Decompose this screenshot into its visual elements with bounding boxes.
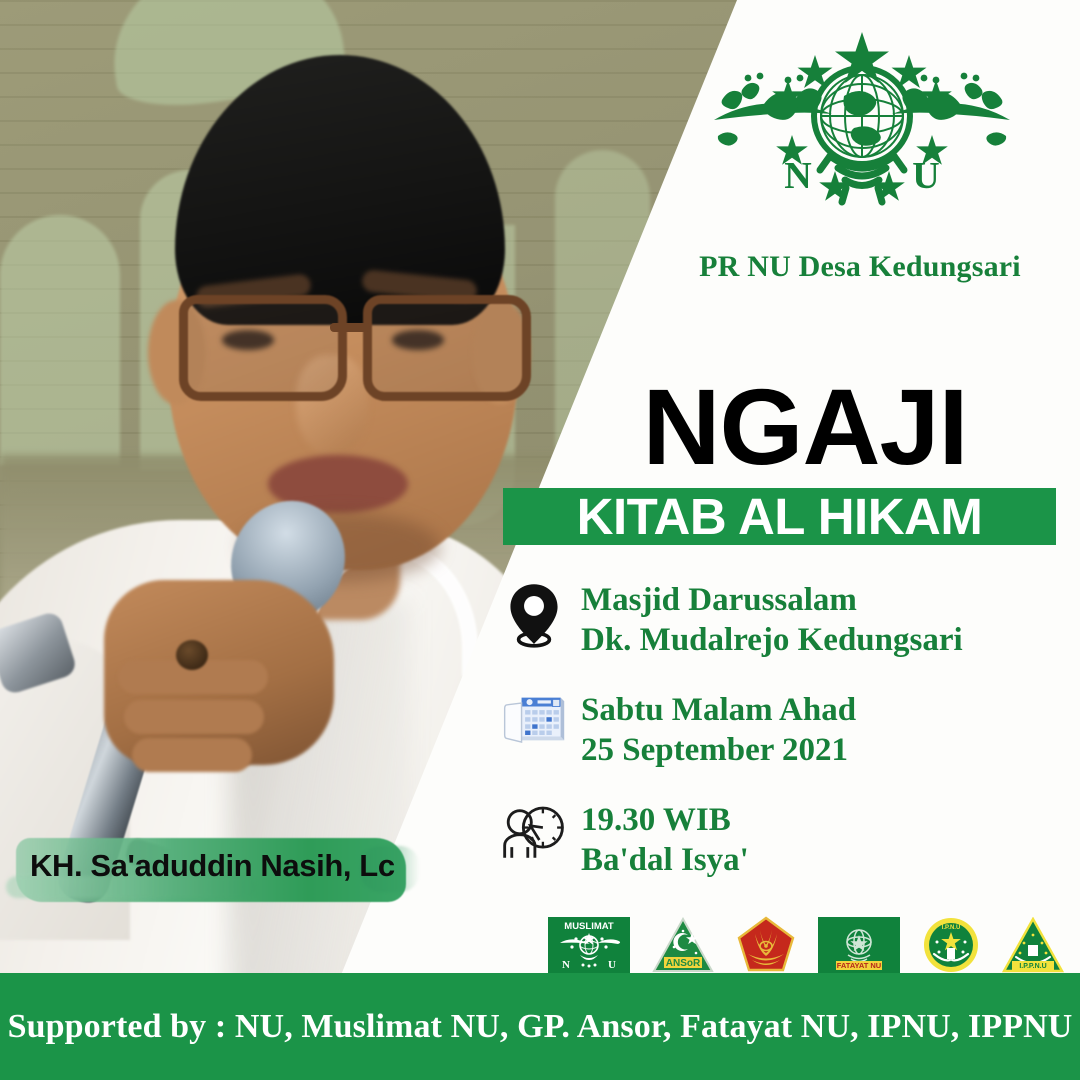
location-line-1: Masjid Darussalam [581,582,857,618]
muslimat-nu-logo: MUSLIMAT N U [548,917,630,978]
muslimat-letter-n: N [562,959,570,971]
detail-text-location: Masjid Darussalam Dk. Mudalrejo Kedungsa… [581,578,963,661]
eyeglasses [155,285,555,395]
detail-row-date: Sabtu Malam Ahad 25 September 2021 [487,688,1077,780]
time-line-1: 19.30 WIB [581,802,731,838]
speaker-name-banner: KH. Sa'aduddin Nasih, Lc [8,820,428,920]
ipnu-logo: I.P.N.U [922,916,980,979]
nu-logo-letter-u: U [912,155,939,197]
supporting-organization-logos: MUSLIMAT N U [548,916,1068,978]
detail-row-time: 19.30 WIB Ba'dal Isya' [487,798,1077,890]
ipnu-label: I.P.N.U [942,925,961,931]
muslimat-label: MUSLIMAT [564,921,614,932]
date-line-2: 25 September 2021 [581,730,856,770]
date-line-1: Sabtu Malam Ahad [581,692,856,728]
event-title-sub: KITAB AL HIKAM [503,488,1056,545]
finger [132,738,252,772]
glasses-bridge [330,323,370,332]
event-poster: N U PR NU Desa Kedungsari NGAJI KITAB AL… [0,0,1080,1080]
ippnu-label: I.P.P.N.U [1019,963,1046,970]
person-clock-icon [487,798,581,862]
speaker-name: KH. Sa'aduddin Nasih, Lc [30,848,395,884]
organization-caption: PR NU Desa Kedungsari [660,250,1060,284]
lens-left [179,295,347,401]
detail-text-date: Sabtu Malam Ahad 25 September 2021 [581,688,856,771]
calendar-icon [487,688,581,746]
finger [124,700,264,734]
time-line-2: Ba'dal Isya' [581,840,749,880]
muslimat-letter-u: U [608,959,616,971]
detail-row-location: Masjid Darussalam Dk. Mudalrejo Kedungsa… [487,578,1077,670]
fatayat-nu-logo: FATAYAT NU [818,917,900,978]
nu-logo: N U [712,28,1012,228]
pagar-nusa-logo [736,916,796,979]
detail-text-time: 19.30 WIB Ba'dal Isya' [581,798,749,881]
ansor-label: ANSoR [666,958,701,969]
fatayat-label: FATAYAT NU [837,961,881,970]
nu-logo-letter-n: N [784,155,811,197]
ippnu-logo: I.P.P.N.U [1002,917,1064,978]
lens-right [363,295,531,401]
location-line-2: Dk. Mudalrejo Kedungsari [581,620,963,660]
finger-ring [176,640,208,670]
event-details: Masjid Darussalam Dk. Mudalrejo Kedungsa… [487,578,1077,908]
event-title-main: NGAJI [550,373,1060,481]
ansor-logo: ANSoR [652,917,714,978]
location-pin-icon [487,578,581,648]
footer-supported-by-text: Supported by : NU, Muslimat NU, GP. Anso… [0,973,1080,1080]
